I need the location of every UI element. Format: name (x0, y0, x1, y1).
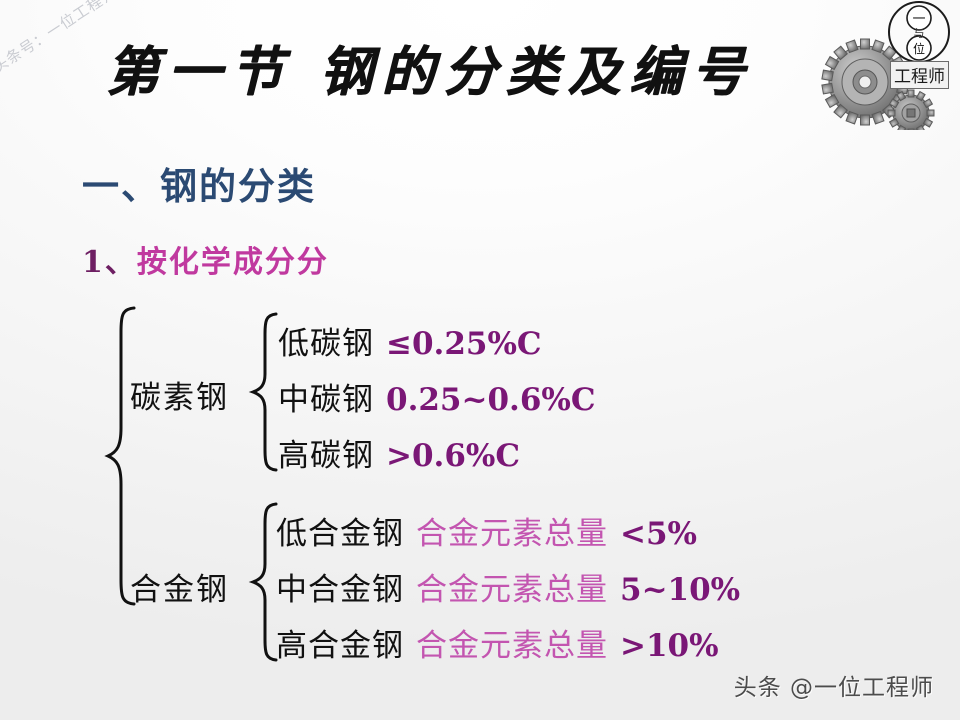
outer-brace (104, 306, 138, 606)
tree-row: 低合金钢合金元素总量<5% (276, 508, 697, 553)
row-description: 合金元素总量 (416, 516, 608, 552)
svg-text:一: 一 (912, 12, 925, 27)
inner-brace-carbon-steel (250, 312, 280, 472)
row-name: 低碳钢 (278, 326, 374, 362)
row-name: 中合金钢 (276, 572, 404, 608)
subsection-label: 按化学成分分 (137, 245, 329, 280)
subsection-number: 1、 (82, 245, 137, 280)
row-name: 高碳钢 (278, 438, 374, 474)
row-value: ≤0.25%C (386, 326, 542, 362)
row-value: <5% (620, 516, 697, 552)
subsection-heading: 1、按化学成分分 (82, 237, 329, 281)
row-value: 5~10% (620, 572, 740, 608)
row-description: 合金元素总量 (416, 572, 608, 608)
page-title: 第一节 钢的分类及编号 (0, 30, 860, 106)
row-name: 中碳钢 (278, 382, 374, 418)
section-heading: 一、钢的分类 (82, 156, 316, 210)
svg-text:与: 与 (914, 27, 925, 40)
tree-row: 中碳钢0.25~0.6%C (278, 374, 596, 419)
watermark-bottom: 头条 @一位工程师 (734, 668, 934, 702)
tree-row: 低碳钢≤0.25%C (278, 318, 542, 363)
tree-row: 高合金钢合金元素总量>10% (276, 620, 719, 665)
row-value: >0.6%C (386, 438, 520, 474)
row-value: >10% (620, 628, 719, 664)
slide-canvas: 头条号：一位工程师 (0, 0, 960, 720)
row-value: 0.25~0.6%C (386, 382, 596, 418)
row-name: 高合金钢 (276, 628, 404, 664)
row-name: 低合金钢 (276, 516, 404, 552)
logo-badge-label: 工程师 (890, 61, 949, 89)
group-label-alloy-steel: 合金钢 (130, 564, 229, 609)
tree-row: 中合金钢合金元素总量5~10% (276, 564, 740, 609)
row-description: 合金元素总量 (416, 628, 608, 664)
tree-row: 高碳钢>0.6%C (278, 430, 520, 475)
group-label-carbon-steel: 碳素钢 (130, 372, 229, 417)
svg-text:位: 位 (913, 41, 925, 56)
